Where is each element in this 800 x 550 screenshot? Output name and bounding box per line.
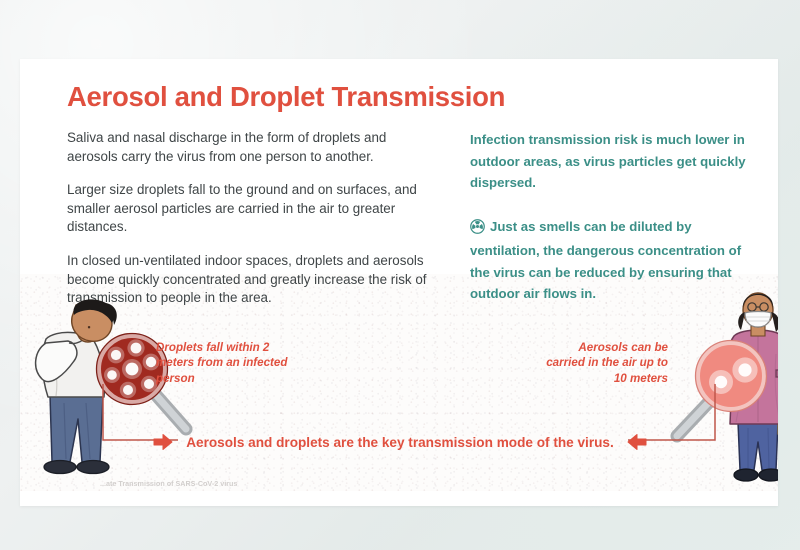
left-paragraph-1: Saliva and nasal discharge in the form o… — [67, 129, 430, 166]
banner-text: Aerosols and droplets are the key transm… — [186, 435, 614, 450]
right-text-column: Infection transmission risk is much lowe… — [470, 129, 760, 305]
callout-right-label: Aerosols can be carried in the air up to… — [538, 340, 668, 386]
source-caption: ...ate Transmission of SARS-CoV-2 virus — [100, 479, 237, 488]
arrow-right-icon — [153, 433, 173, 451]
arrow-left-icon — [627, 433, 647, 451]
key-message-banner: Aerosols and droplets are the key transm… — [110, 429, 690, 455]
callout-left-label: Droplets fall within 2 meters from an in… — [156, 340, 296, 386]
right-paragraph-2-text: Just as smells can be diluted by ventila… — [470, 219, 741, 302]
screenshot-root: Aerosol and Droplet Transmission Saliva … — [0, 0, 800, 550]
left-text-column: Saliva and nasal discharge in the form o… — [67, 129, 430, 308]
infographic-canvas: Aerosol and Droplet Transmission Saliva … — [20, 59, 778, 491]
right-paragraph-1: Infection transmission risk is much lowe… — [470, 129, 760, 194]
biohazard-icon — [470, 219, 485, 241]
left-paragraph-2: Larger size droplets fall to the ground … — [67, 181, 430, 237]
page-title: Aerosol and Droplet Transmission — [67, 81, 505, 113]
infographic-card: Aerosol and Droplet Transmission Saliva … — [20, 59, 778, 506]
